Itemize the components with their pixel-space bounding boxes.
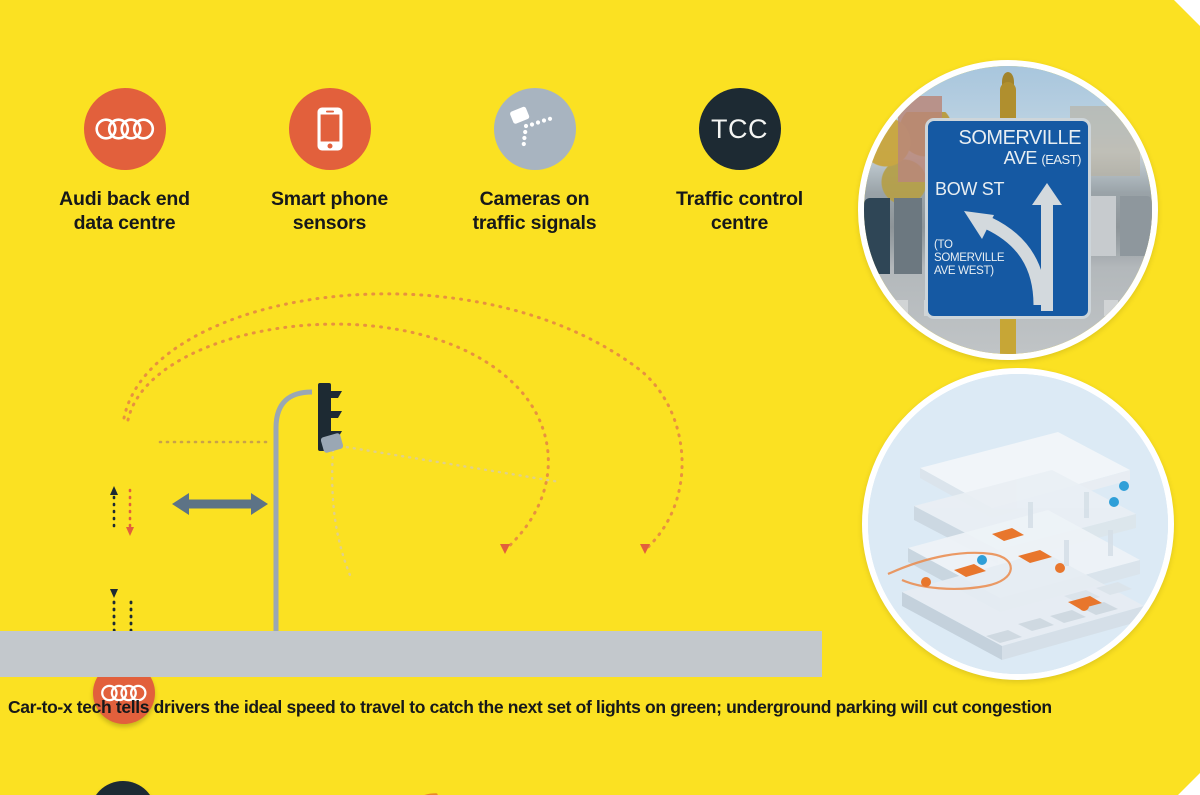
arrowhead-down-tcc	[126, 527, 134, 536]
traffic-camera-icon	[320, 432, 348, 458]
tcc-abbrev-text: TCC	[711, 114, 768, 145]
legend-badge-audi	[84, 88, 166, 170]
legend-badge-camera	[494, 88, 576, 170]
two-way-arrow	[172, 490, 268, 518]
link-camera-to-right	[340, 446, 560, 482]
legend-label-camera: Cameras on traffic signals	[440, 188, 630, 236]
road-sign-board: SOMERVILLE AVE (EAST) BOW ST (TO SOMERVI…	[925, 118, 1091, 319]
legend-item-cameras-on-traffic-signals: Cameras on traffic signals	[432, 88, 637, 236]
link-camera-down	[332, 450, 352, 580]
sign-text-somerville: SOMERVILLE	[959, 127, 1081, 150]
legend-item-traffic-control-centre: TCC Traffic control centre	[637, 88, 842, 236]
arrowhead-up-audi	[110, 486, 118, 495]
arrowhead-up-tcc	[110, 589, 118, 598]
network-diagram: TCC	[0, 250, 860, 670]
arrowhead-dark-car	[640, 544, 650, 554]
legend-badge-tcc: TCC	[699, 88, 781, 170]
caption-text: Car-to-x tech tells drivers the ideal sp…	[8, 697, 1192, 718]
arrowhead-orange-car	[500, 544, 510, 554]
somerville-road-sign-photo: SOMERVILLE AVE (EAST) BOW ST (TO SOMERVI…	[858, 60, 1158, 360]
legend-label-phone: Smart phone sensors	[235, 188, 425, 236]
garage-illustration	[868, 374, 1168, 674]
wifi-waves-icon	[400, 783, 456, 795]
audi-rings-icon	[95, 116, 155, 142]
camera-signal-icon	[507, 105, 563, 153]
diagram-connections	[0, 250, 860, 670]
sign-arrow-curve-left	[948, 187, 1058, 307]
road-surface	[0, 631, 822, 677]
legend-label-audi: Audi back end data centre	[30, 188, 220, 236]
legend-badge-phone	[289, 88, 371, 170]
legend: Audi back end data centre Smart phone se…	[22, 88, 842, 236]
legend-label-tcc: Traffic control centre	[645, 188, 835, 236]
infographic-page: Audi back end data centre Smart phone se…	[0, 0, 1200, 795]
wifi-waves	[400, 783, 456, 795]
page-corner-fold-top	[1174, 0, 1200, 26]
traffic-light-pole	[276, 392, 312, 640]
traffic-camera	[320, 432, 348, 458]
smartphone-icon	[316, 106, 344, 152]
two-way-arrow-icon	[172, 490, 268, 518]
page-corner-fold-bottom	[1178, 773, 1200, 795]
legend-item-audi-data-centre: Audi back end data centre	[22, 88, 227, 236]
sign-text-ave-east: AVE (EAST)	[1004, 148, 1081, 169]
underground-parking-garage-render	[862, 368, 1174, 680]
tcc-node[interactable]: TCC	[90, 781, 156, 795]
legend-item-smart-phone-sensors: Smart phone sensors	[227, 88, 432, 236]
